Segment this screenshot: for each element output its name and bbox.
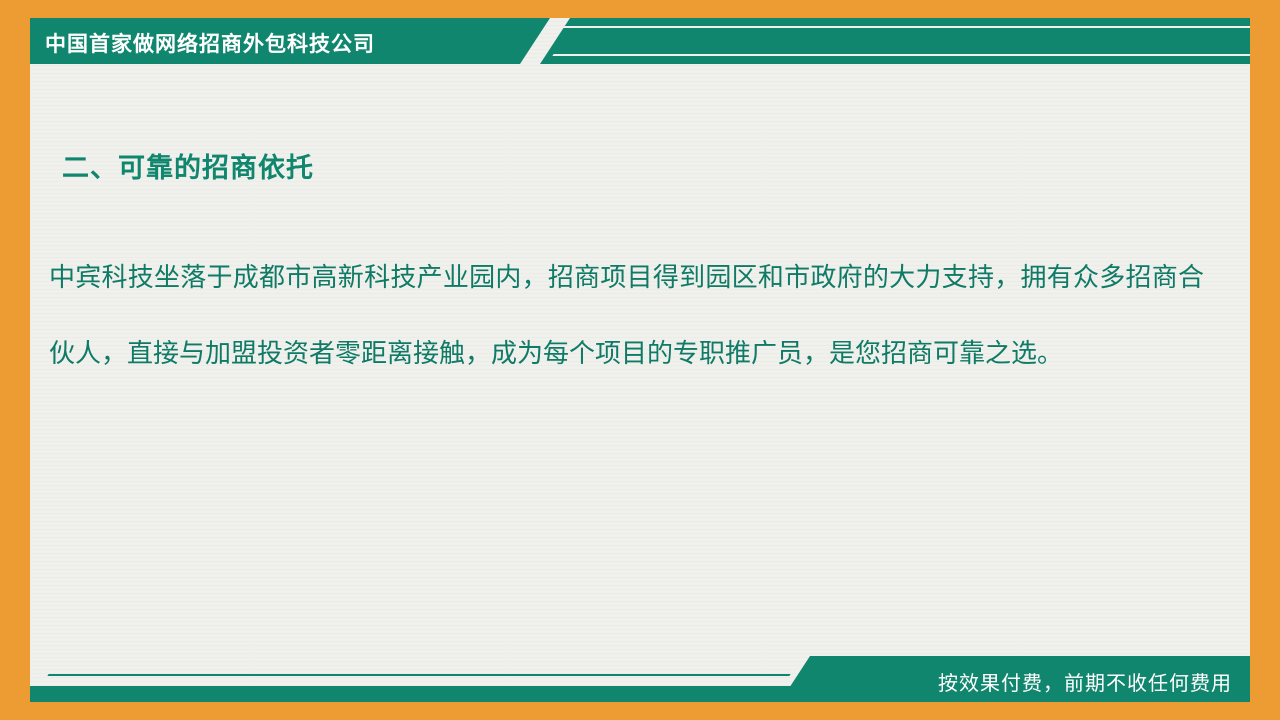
footer-tagline: 按效果付费，前期不收任何费用 [938,667,1232,696]
footer-band: 按效果付费，前期不收任何费用 [30,656,1250,702]
header-band: 中国首家做网络招商外包科技公司 [30,18,1250,64]
slide-canvas: 中国首家做网络招商外包科技公司 二、可靠的招商依托 中宾科技坐落于成都市高新科技… [30,18,1250,702]
header-rule-top [563,26,1250,28]
footer-rule [47,674,790,676]
footer-left-shape [30,656,820,702]
slide: 中国首家做网络招商外包科技公司 二、可靠的招商依托 中宾科技坐落于成都市高新科技… [0,0,1280,720]
header-rule-bottom [552,54,1250,56]
header-right-banner [540,18,1250,64]
section-heading: 二、可靠的招商依托 [62,146,314,185]
body-paragraph: 中宾科技坐落于成都市高新科技产业园内，招商项目得到园区和市政府的大力支持，拥有众… [49,240,1204,392]
header-title: 中国首家做网络招商外包科技公司 [45,28,375,58]
